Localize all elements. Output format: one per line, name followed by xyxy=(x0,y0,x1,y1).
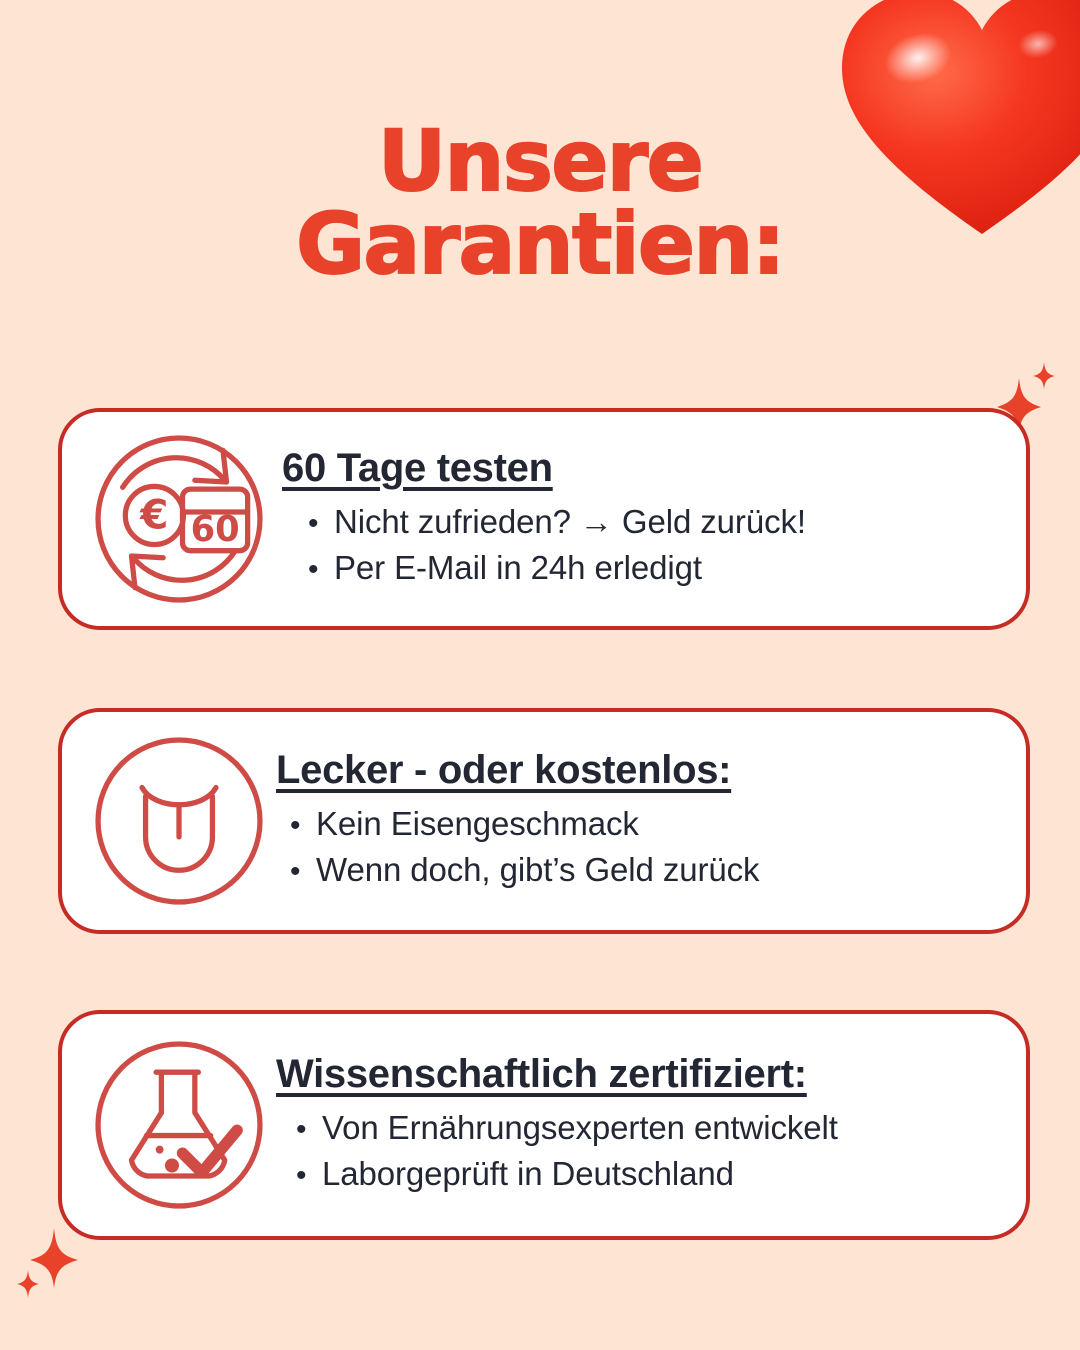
guarantees-infographic: Unsere Garantien: € 60 60 Tage testen xyxy=(0,0,1080,1350)
heart-highlight xyxy=(878,25,958,92)
calendar-day-count: 60 xyxy=(191,509,240,550)
bullet-marker: • xyxy=(296,1155,322,1198)
card-title: Wissenschaftlich zertifiziert: xyxy=(276,1052,1004,1097)
bullet-text: Kein Eisengeschmack xyxy=(316,801,639,848)
tongue-taste-icon xyxy=(88,730,270,912)
bullet-marker: • xyxy=(308,549,334,592)
guarantee-card-taste[interactable]: Lecker - oder kostenlos: • Kein Eisenges… xyxy=(58,708,1030,934)
guarantee-card-science[interactable]: Wissenschaftlich zertifiziert: • Von Ern… xyxy=(58,1010,1030,1240)
list-item: • Von Ernährungsexperten entwickelt xyxy=(296,1105,1004,1152)
headline-line-2: Garantien: xyxy=(0,203,1080,286)
money-back-60-days-icon: € 60 xyxy=(88,428,270,610)
heart-highlight-2 xyxy=(1016,27,1060,62)
card-title: Lecker - oder kostenlos: xyxy=(276,748,1004,793)
flask-bubble-small xyxy=(156,1146,164,1154)
card-body: Lecker - oder kostenlos: • Kein Eisenges… xyxy=(270,748,1004,895)
card-bullet-list: • Von Ernährungsexperten entwickelt • La… xyxy=(296,1105,1004,1199)
card-body: 60 Tage testen • Nicht zufrieden? → Geld… xyxy=(270,446,1004,593)
bullet-marker: • xyxy=(308,503,334,546)
list-item: • Per E-Mail in 24h erledigt xyxy=(308,545,1004,592)
card-body: Wissenschaftlich zertifiziert: • Von Ern… xyxy=(270,1052,1004,1199)
guarantee-card-money-back[interactable]: € 60 60 Tage testen • Nicht zufrieden? →… xyxy=(58,408,1030,630)
sparkle-icon xyxy=(12,1222,82,1302)
bullet-marker: • xyxy=(290,851,316,894)
bullet-text: Per E-Mail in 24h erledigt xyxy=(334,545,702,592)
list-item: • Laborgeprüft in Deutschland xyxy=(296,1151,1004,1198)
list-item: • Nicht zufrieden? → Geld zurück! xyxy=(308,499,1004,546)
bullet-marker: • xyxy=(296,1109,322,1152)
bullet-text: Nicht zufrieden? → Geld zurück! xyxy=(334,499,806,546)
bullet-text: Laborgeprüft in Deutschland xyxy=(322,1151,734,1198)
card-bullet-list: • Nicht zufrieden? → Geld zurück! • Per … xyxy=(308,499,1004,593)
bullet-text: Wenn doch, gibt’s Geld zurück xyxy=(316,847,759,894)
bullet-text: Von Ernährungsexperten entwickelt xyxy=(322,1105,838,1152)
flask-bubble-large xyxy=(165,1158,179,1172)
bullet-marker: • xyxy=(290,805,316,848)
upper-lip-arc xyxy=(142,788,216,805)
card-title: 60 Tage testen xyxy=(282,446,1004,491)
list-item: • Kein Eisengeschmack xyxy=(290,801,1004,848)
lab-flask-checkmark-icon xyxy=(88,1034,270,1216)
page-title: Unsere Garantien: xyxy=(0,120,1080,286)
card-bullet-list: • Kein Eisengeschmack • Wenn doch, gibt’… xyxy=(290,801,1004,895)
euro-symbol: € xyxy=(139,491,168,539)
list-item: • Wenn doch, gibt’s Geld zurück xyxy=(290,847,1004,894)
sparkle-bottom-left xyxy=(12,1222,82,1302)
